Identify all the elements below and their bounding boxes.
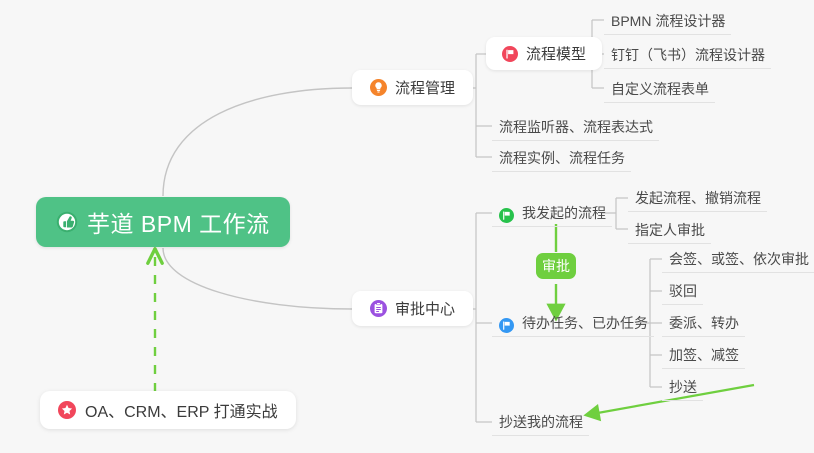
- leaf-node-dingtalk-feishu-designer[interactable]: 钉钉（飞书）流程设计器: [604, 41, 771, 69]
- connector-root-to-approval-center: [163, 248, 352, 309]
- leaf-label-countersign-orsign-sequential: 会签、或签、依次审批: [669, 248, 809, 270]
- leaf-node-process-instance-task[interactable]: 流程实例、流程任务: [492, 144, 631, 172]
- leaf-node-bpmn-designer[interactable]: BPMN 流程设计器: [604, 7, 731, 35]
- branch-node-approval-center[interactable]: 审批中心: [352, 291, 473, 326]
- branch-label-approval-center: 审批中心: [395, 298, 455, 319]
- leaf-node-custom-process-form[interactable]: 自定义流程表单: [604, 75, 715, 103]
- leaf-label-designated-approver: 指定人审批: [635, 219, 705, 241]
- mindmap-canvas: 芋道 BPM 工作流 流程管理 流程模型 BPMN 流程设计器 钉钉（飞书: [0, 0, 814, 453]
- flag-icon: [502, 46, 518, 62]
- node-process-model[interactable]: 流程模型: [486, 37, 602, 70]
- flag-icon: [499, 208, 514, 223]
- leaf-label-start-cancel-process: 发起流程、撤销流程: [635, 187, 761, 209]
- leaf-label-add-remove-sign: 加签、减签: [669, 344, 739, 366]
- leaf-label-process-listener-expression: 流程监听器、流程表达式: [499, 116, 653, 138]
- leaf-label-custom-process-form: 自定义流程表单: [611, 78, 709, 100]
- leaf-node-process-listener-expression[interactable]: 流程监听器、流程表达式: [492, 113, 659, 141]
- annotation-pill-approval: 审批: [536, 253, 576, 279]
- node-todo-done-task[interactable]: 待办任务、已办任务: [492, 309, 654, 337]
- connector-root-to-process-management: [163, 88, 352, 196]
- node-label-todo-done-task: 待办任务、已办任务: [522, 312, 648, 334]
- leaf-label-bpmn-designer: BPMN 流程设计器: [611, 10, 725, 32]
- branch-label-process-management: 流程管理: [395, 77, 455, 98]
- leaf-node-countersign-orsign-sequential[interactable]: 会签、或签、依次审批: [662, 245, 814, 273]
- annotation-callout-integration[interactable]: OA、CRM、ERP 打通实战: [40, 391, 296, 429]
- leaf-label-delegate-transfer: 委派、转办: [669, 312, 739, 334]
- leaf-node-cc[interactable]: 抄送: [662, 373, 703, 401]
- leaf-node-start-cancel-process[interactable]: 发起流程、撤销流程: [628, 184, 767, 212]
- leaf-label-dingtalk-feishu-designer: 钉钉（飞书）流程设计器: [611, 44, 765, 66]
- leaf-node-reject[interactable]: 驳回: [662, 277, 703, 305]
- leaf-node-add-remove-sign[interactable]: 加签、减签: [662, 341, 745, 369]
- annotation-pill-label: 审批: [542, 256, 570, 276]
- leaf-label-cc-to-me-process: 抄送我的流程: [499, 411, 583, 433]
- leaf-label-process-instance-task: 流程实例、流程任务: [499, 147, 625, 169]
- node-label-process-model: 流程模型: [526, 43, 586, 64]
- leaf-label-reject: 驳回: [669, 280, 697, 302]
- star-icon: [58, 401, 76, 419]
- node-label-my-initiated-process: 我发起的流程: [522, 202, 606, 224]
- flag-icon: [499, 318, 514, 333]
- root-label: 芋道 BPM 工作流: [87, 205, 270, 239]
- lightbulb-icon: [370, 79, 387, 96]
- clipboard-icon: [370, 300, 387, 317]
- leaf-node-delegate-transfer[interactable]: 委派、转办: [662, 309, 745, 337]
- branch-node-process-management[interactable]: 流程管理: [352, 70, 473, 105]
- leaf-label-cc: 抄送: [669, 376, 697, 398]
- root-node[interactable]: 芋道 BPM 工作流: [36, 197, 290, 247]
- leaf-node-cc-to-me-process[interactable]: 抄送我的流程: [492, 408, 589, 436]
- thumbs-up-icon: [56, 211, 78, 233]
- leaf-node-designated-approver[interactable]: 指定人审批: [628, 216, 711, 244]
- node-my-initiated-process[interactable]: 我发起的流程: [492, 199, 612, 227]
- annotation-callout-label: OA、CRM、ERP 打通实战: [85, 398, 278, 422]
